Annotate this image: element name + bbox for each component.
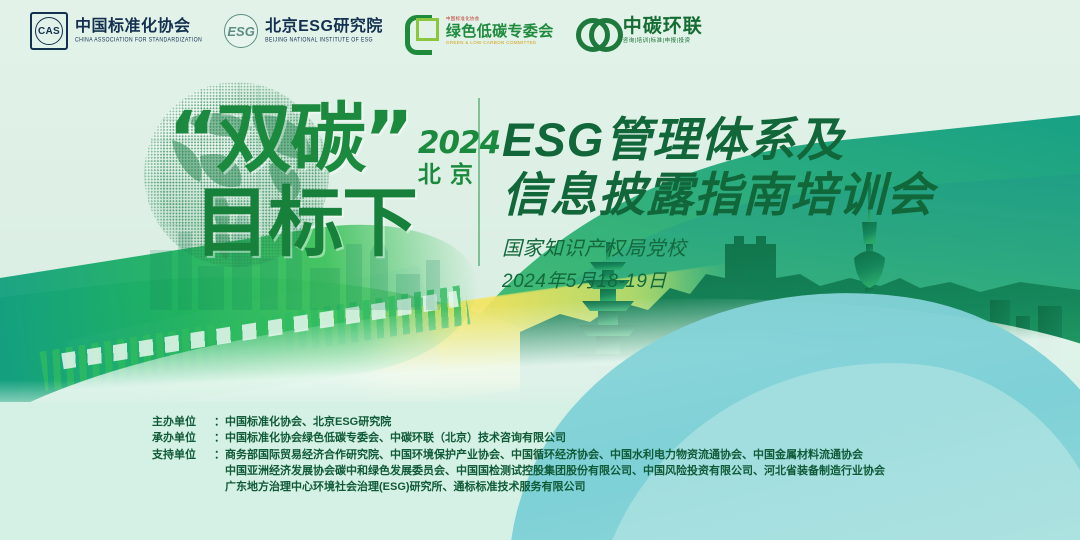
event-date: 2024年5月18-19日 bbox=[502, 266, 934, 293]
zhongtan-rings-icon bbox=[576, 16, 616, 46]
logo-zhongtan-cn: 中碳环联 bbox=[623, 17, 703, 36]
logo-beijing-esg[interactable]: ESG 北京ESG研究院 BEIJING NATIONAL INSTITUTE … bbox=[224, 14, 383, 48]
organizer-supporter-line2: 中国亚洲经济发展协会碳中和绿色发展委员会、中国国检测试控股集团股份有限公司、中国… bbox=[152, 463, 885, 479]
headline-right: ESG管理体系及 信息披露指南培训会 国家知识产权局党校 2024年5月18-1… bbox=[502, 112, 934, 293]
organizer-colon-coorganizer: ： bbox=[214, 430, 225, 446]
event-title-line1: ESG管理体系及 bbox=[502, 112, 934, 167]
green-lowcarbon-g-icon bbox=[405, 15, 439, 47]
organizer-label-host: 主办单位 bbox=[152, 414, 214, 430]
organizer-colon-host: ： bbox=[214, 414, 225, 430]
organizer-value-host: 中国标准化协会、北京ESG研究院 bbox=[225, 414, 391, 430]
logo-green-lowcarbon-en: GREEN & LOW CARBON COMMITTEE bbox=[446, 41, 554, 46]
logo-beijing-esg-en: BEIJING NATIONAL INSTITUTE OF ESG bbox=[265, 38, 383, 44]
headline-year: 2024 bbox=[418, 128, 500, 159]
organizer-value-coorganizer: 中国标准化协会绿色低碳专委会、中碳环联（北京）技术咨询有限公司 bbox=[225, 430, 566, 446]
logo-cas-en: CHINA ASSOCIATION FOR STANDARDIZATION bbox=[75, 38, 202, 44]
organizer-colon-supporter: ： bbox=[214, 447, 225, 463]
beijing-esg-seal-icon: ESG bbox=[224, 14, 258, 48]
cas-seal-icon: CAS bbox=[30, 12, 68, 50]
organizer-row-coorganizer: 承办单位 ： 中国标准化协会绿色低碳专委会、中碳环联（北京）技术咨询有限公司 bbox=[152, 430, 885, 446]
organizer-row-host: 主办单位 ： 中国标准化协会、北京ESG研究院 bbox=[152, 414, 885, 430]
event-poster: CAS 中国标准化协会 CHINA ASSOCIATION FOR STANDA… bbox=[0, 0, 1080, 540]
logo-cas-cn: 中国标准化协会 bbox=[75, 19, 202, 35]
event-title-line2: 信息披露指南培训会 bbox=[502, 167, 934, 222]
organizer-row-supporter: 支持单位 ： 商务部国际贸易经济合作研究院、中国环境保护产业协会、中国循环经济协… bbox=[152, 447, 885, 463]
logo-green-lowcarbon-cn: 绿色低碳专委会 bbox=[446, 24, 554, 39]
logo-cas[interactable]: CAS 中国标准化协会 CHINA ASSOCIATION FOR STANDA… bbox=[30, 12, 202, 50]
headline-divider bbox=[478, 98, 480, 266]
logo-zhongtan-sub: 咨询|培训|标准|申报|投资 bbox=[623, 39, 703, 44]
sponsor-logo-bar: CAS 中国标准化协会 CHINA ASSOCIATION FOR STANDA… bbox=[30, 12, 703, 50]
event-venue: 国家知识产权局党校 bbox=[502, 232, 934, 261]
headline-left: “双碳” 2024 北京 目标下 bbox=[168, 104, 500, 258]
organizers-block: 主办单位 ： 中国标准化协会、北京ESG研究院 承办单位 ： 中国标准化协会绿色… bbox=[152, 414, 885, 495]
organizer-label-coorganizer: 承办单位 bbox=[152, 430, 214, 446]
logo-green-lowcarbon[interactable]: 中国标准化协会 绿色低碳专委会 GREEN & LOW CARBON COMMI… bbox=[405, 15, 554, 47]
logo-green-lowcarbon-parent: 中国标准化协会 bbox=[446, 17, 554, 22]
cas-mark-text: CAS bbox=[38, 26, 60, 37]
organizer-supporter-line3: 广东地方治理中心环境社会治理(ESG)研究所、通标标准技术服务有限公司 bbox=[152, 479, 885, 495]
headline-left-line2: 目标下 bbox=[194, 188, 500, 258]
logo-zhongtan-huanlian[interactable]: 中碳环联 咨询|培训|标准|申报|投资 bbox=[576, 16, 703, 46]
headline-city: 北京 bbox=[418, 163, 500, 186]
organizer-label-supporter: 支持单位 bbox=[152, 447, 214, 463]
logo-beijing-esg-cn: 北京ESG研究院 bbox=[265, 19, 383, 35]
headline-left-line1: “双碳” bbox=[168, 104, 412, 174]
organizer-value-supporter: 商务部国际贸易经济合作研究院、中国环境保护产业协会、中国循环经济协会、中国水利电… bbox=[225, 447, 863, 463]
